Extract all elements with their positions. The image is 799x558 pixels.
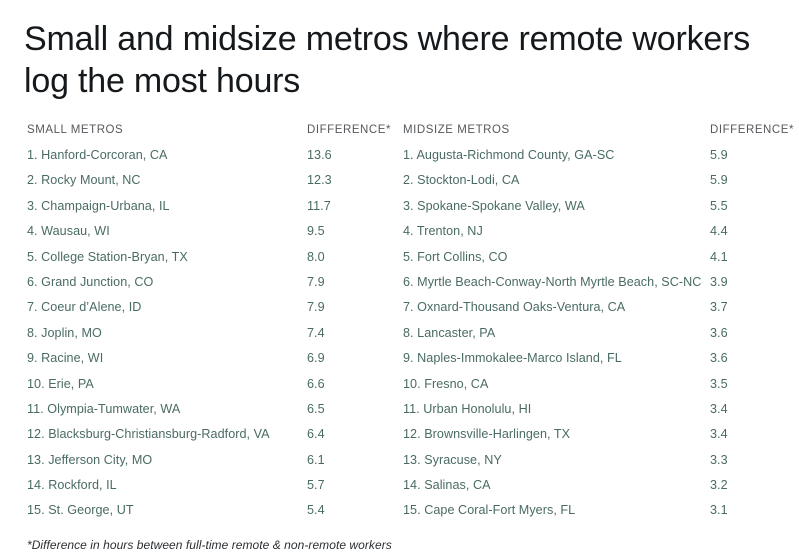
difference-value: 11.7 bbox=[307, 199, 331, 213]
footnote: *Difference in hours between full-time r… bbox=[27, 538, 392, 552]
difference-value: 4.1 bbox=[710, 250, 728, 264]
difference-value: 5.9 bbox=[710, 148, 728, 162]
metro-name: 4. Trenton, NJ bbox=[403, 224, 483, 238]
table-row: 7. Coeur d’Alene, ID7.9 bbox=[27, 300, 387, 325]
table-row: 10. Fresno, CA3.5 bbox=[403, 377, 788, 402]
table-row: 13. Syracuse, NY3.3 bbox=[403, 453, 788, 478]
metro-name: 7. Coeur d’Alene, ID bbox=[27, 300, 141, 314]
difference-value: 7.9 bbox=[307, 275, 325, 289]
difference-value: 6.1 bbox=[307, 453, 325, 467]
table-row: 5. Fort Collins, CO4.1 bbox=[403, 250, 788, 275]
metro-name: 3. Champaign-Urbana, IL bbox=[27, 199, 170, 213]
metro-name: 12. Brownsville-Harlingen, TX bbox=[403, 427, 570, 441]
metro-name: 9. Racine, WI bbox=[27, 351, 103, 365]
difference-value: 5.4 bbox=[307, 503, 325, 517]
difference-value: 4.4 bbox=[710, 224, 728, 238]
midsize-metros-difference-header: DIFFERENCE* bbox=[710, 124, 794, 136]
small-metros-difference-header: DIFFERENCE* bbox=[307, 124, 391, 136]
metro-name: 1. Hanford-Corcoran, CA bbox=[27, 148, 167, 162]
metro-name: 14. Rockford, IL bbox=[27, 478, 117, 492]
difference-value: 3.3 bbox=[710, 453, 728, 467]
midsize-metros-header-row: MIDSIZE METROS DIFFERENCE* bbox=[403, 122, 788, 148]
table-row: 6. Myrtle Beach-Conway-North Myrtle Beac… bbox=[403, 275, 788, 300]
table-row: 9. Racine, WI6.9 bbox=[27, 351, 387, 376]
metro-name: 14. Salinas, CA bbox=[403, 478, 491, 492]
difference-value: 8.0 bbox=[307, 250, 325, 264]
difference-value: 3.2 bbox=[710, 478, 728, 492]
metro-name: 8. Joplin, MO bbox=[27, 326, 102, 340]
metro-name: 15. St. George, UT bbox=[27, 503, 134, 517]
metro-name: 2. Stockton-Lodi, CA bbox=[403, 173, 520, 187]
midsize-metros-table: MIDSIZE METROS DIFFERENCE* 1. Augusta-Ri… bbox=[403, 122, 788, 529]
infographic-table-page: Small and midsize metros where remote wo… bbox=[0, 0, 799, 558]
table-row: 5. College Station-Bryan, TX8.0 bbox=[27, 250, 387, 275]
table-row: 8. Lancaster, PA3.6 bbox=[403, 326, 788, 351]
difference-value: 7.4 bbox=[307, 326, 325, 340]
difference-value: 3.6 bbox=[710, 326, 728, 340]
table-row: 14. Rockford, IL5.7 bbox=[27, 478, 387, 503]
metro-name: 2. Rocky Mount, NC bbox=[27, 173, 141, 187]
difference-value: 3.5 bbox=[710, 377, 728, 391]
difference-value: 3.1 bbox=[710, 503, 728, 517]
metro-name: 15. Cape Coral-Fort Myers, FL bbox=[403, 503, 575, 517]
metro-name: 7. Oxnard-Thousand Oaks-Ventura, CA bbox=[403, 300, 625, 314]
table-row: 13. Jefferson City, MO6.1 bbox=[27, 453, 387, 478]
metro-name: 11. Olympia-Tumwater, WA bbox=[27, 402, 180, 416]
midsize-metros-rows: 1. Augusta-Richmond County, GA-SC5.92. S… bbox=[403, 148, 788, 529]
table-row: 11. Urban Honolulu, HI3.4 bbox=[403, 402, 788, 427]
difference-value: 6.5 bbox=[307, 402, 325, 416]
small-metros-rows: 1. Hanford-Corcoran, CA13.62. Rocky Moun… bbox=[27, 148, 387, 529]
table-row: 3. Champaign-Urbana, IL11.7 bbox=[27, 199, 387, 224]
small-metros-table: SMALL METROS DIFFERENCE* 1. Hanford-Corc… bbox=[27, 122, 387, 529]
difference-value: 6.6 bbox=[307, 377, 325, 391]
table-row: 15. St. George, UT5.4 bbox=[27, 503, 387, 528]
table-row: 1. Augusta-Richmond County, GA-SC5.9 bbox=[403, 148, 788, 173]
difference-value: 6.4 bbox=[307, 427, 325, 441]
table-row: 4. Trenton, NJ4.4 bbox=[403, 224, 788, 249]
difference-value: 6.9 bbox=[307, 351, 325, 365]
metro-name: 13. Syracuse, NY bbox=[403, 453, 502, 467]
difference-value: 3.9 bbox=[710, 275, 728, 289]
table-row: 7. Oxnard-Thousand Oaks-Ventura, CA3.7 bbox=[403, 300, 788, 325]
metro-name: 5. Fort Collins, CO bbox=[403, 250, 508, 264]
difference-value: 5.5 bbox=[710, 199, 728, 213]
table-row: 2. Stockton-Lodi, CA5.9 bbox=[403, 173, 788, 198]
metro-name: 3. Spokane-Spokane Valley, WA bbox=[403, 199, 585, 213]
small-metros-column-header: SMALL METROS bbox=[27, 124, 123, 136]
difference-value: 3.6 bbox=[710, 351, 728, 365]
table-row: 14. Salinas, CA3.2 bbox=[403, 478, 788, 503]
metro-name: 13. Jefferson City, MO bbox=[27, 453, 152, 467]
table-row: 6. Grand Junction, CO7.9 bbox=[27, 275, 387, 300]
page-title: Small and midsize metros where remote wo… bbox=[24, 18, 764, 102]
metro-name: 8. Lancaster, PA bbox=[403, 326, 495, 340]
difference-value: 3.7 bbox=[710, 300, 728, 314]
metro-name: 10. Fresno, CA bbox=[403, 377, 488, 391]
metro-name: 1. Augusta-Richmond County, GA-SC bbox=[403, 148, 614, 162]
metro-name: 5. College Station-Bryan, TX bbox=[27, 250, 188, 264]
difference-value: 9.5 bbox=[307, 224, 325, 238]
table-row: 12. Brownsville-Harlingen, TX3.4 bbox=[403, 427, 788, 452]
metro-name: 12. Blacksburg-Christiansburg-Radford, V… bbox=[27, 427, 270, 441]
difference-value: 5.9 bbox=[710, 173, 728, 187]
table-row: 15. Cape Coral-Fort Myers, FL3.1 bbox=[403, 503, 788, 528]
metro-name: 10. Erie, PA bbox=[27, 377, 94, 391]
table-row: 9. Naples-Immokalee-Marco Island, FL3.6 bbox=[403, 351, 788, 376]
midsize-metros-column-header: MIDSIZE METROS bbox=[403, 124, 510, 136]
table-row: 12. Blacksburg-Christiansburg-Radford, V… bbox=[27, 427, 387, 452]
difference-value: 13.6 bbox=[307, 148, 332, 162]
table-row: 10. Erie, PA6.6 bbox=[27, 377, 387, 402]
table-row: 3. Spokane-Spokane Valley, WA5.5 bbox=[403, 199, 788, 224]
difference-value: 3.4 bbox=[710, 427, 728, 441]
small-metros-header-row: SMALL METROS DIFFERENCE* bbox=[27, 122, 387, 148]
difference-value: 12.3 bbox=[307, 173, 332, 187]
table-row: 8. Joplin, MO7.4 bbox=[27, 326, 387, 351]
metro-name: 11. Urban Honolulu, HI bbox=[403, 402, 531, 416]
metro-name: 4. Wausau, WI bbox=[27, 224, 110, 238]
metro-name: 9. Naples-Immokalee-Marco Island, FL bbox=[403, 351, 622, 365]
table-row: 11. Olympia-Tumwater, WA6.5 bbox=[27, 402, 387, 427]
difference-value: 7.9 bbox=[307, 300, 325, 314]
table-row: 2. Rocky Mount, NC12.3 bbox=[27, 173, 387, 198]
difference-value: 3.4 bbox=[710, 402, 728, 416]
metro-name: 6. Myrtle Beach-Conway-North Myrtle Beac… bbox=[403, 275, 701, 289]
table-row: 4. Wausau, WI9.5 bbox=[27, 224, 387, 249]
difference-value: 5.7 bbox=[307, 478, 325, 492]
table-row: 1. Hanford-Corcoran, CA13.6 bbox=[27, 148, 387, 173]
metro-name: 6. Grand Junction, CO bbox=[27, 275, 153, 289]
